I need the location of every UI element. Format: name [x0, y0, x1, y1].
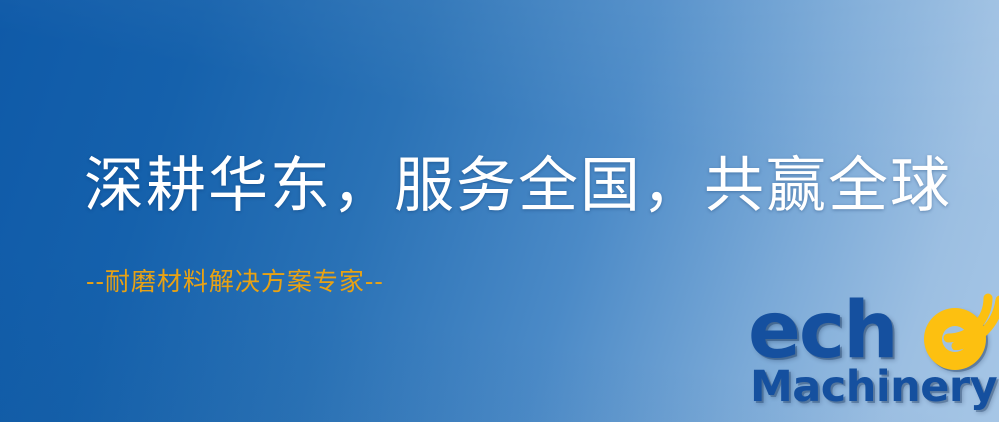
banner-headline: 深耕华东，服务全国，共赢全球 [84, 150, 952, 222]
banner-subtitle: --耐磨材料解决方案专家-- [86, 266, 384, 298]
promo-banner: 深耕华东，服务全国，共赢全球 --耐磨材料解决方案专家-- ech Machin… [0, 0, 999, 422]
echo-wave-icon [934, 286, 999, 350]
echo-machinery-logo: ech Machinery® [748, 292, 999, 422]
logo-wordmark-ech: ech [748, 292, 897, 370]
logo-subword-machinery: Machinery® [750, 364, 999, 414]
logo-subword-text: Machinery [750, 362, 997, 412]
